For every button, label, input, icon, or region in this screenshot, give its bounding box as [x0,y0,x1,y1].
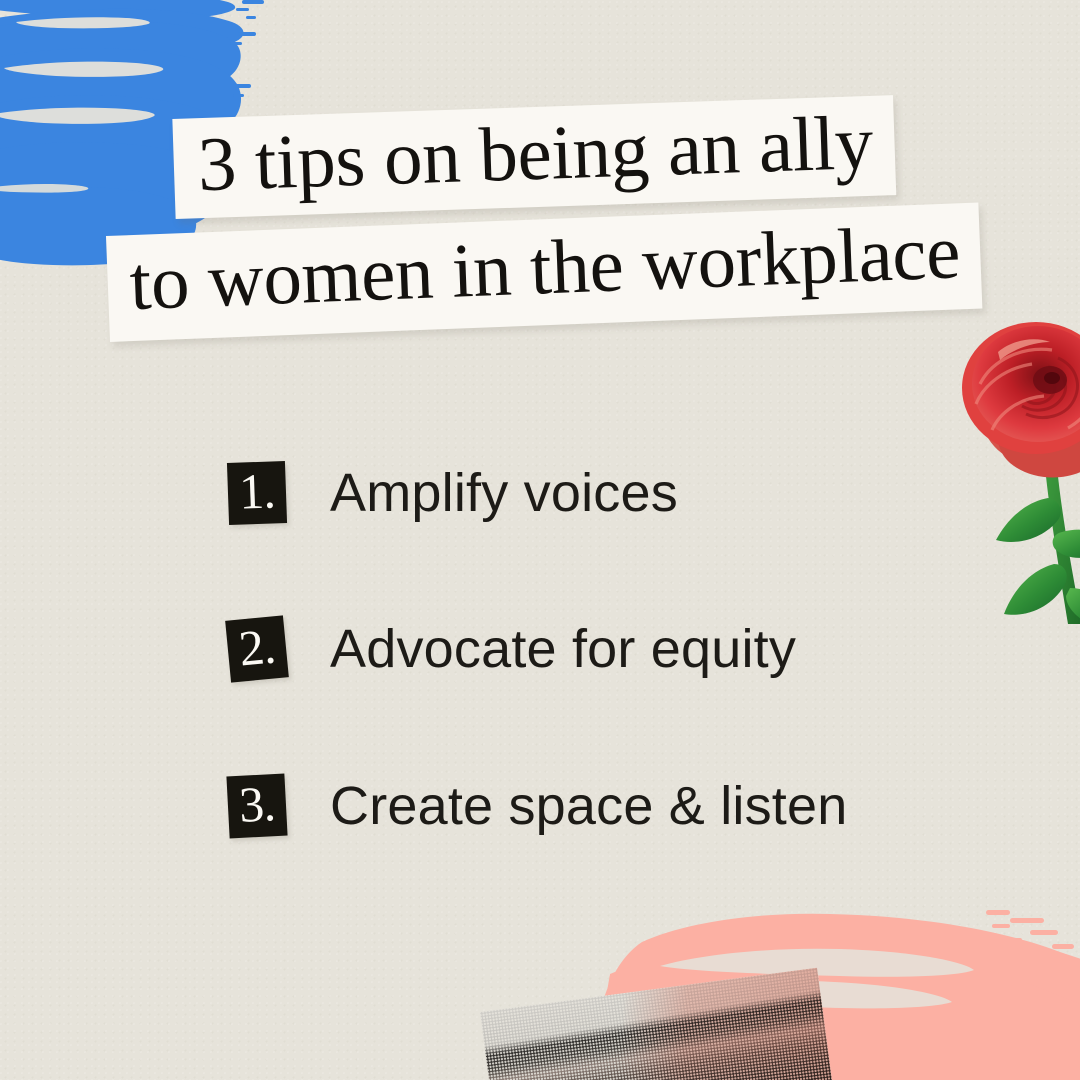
poster-canvas: 3 tips on being an ally to women in the … [0,0,1080,1080]
list-item: 3. Create space & listen [228,775,847,837]
list-item: 1. Amplify voices [228,462,678,524]
title-line-2-text: to women in the workplace [128,211,961,324]
tip-text-label: Advocate for equity [330,622,796,676]
tip-number-label: 3. [238,778,276,830]
page-title: 3 tips on being an ally to women in the … [0,0,1080,400]
tip-number-badge: 2. [225,615,289,682]
title-line-1-text: 3 tips on being an ally [197,102,875,206]
list-item: 2. Advocate for equity [228,618,796,680]
tip-text-label: Amplify voices [330,466,678,520]
tip-number-label: 1. [238,465,275,516]
title-line-1-bar: 3 tips on being an ally [172,95,896,218]
tip-number-badge: 1. [227,461,287,525]
tip-number-label: 2. [237,620,277,673]
tip-number-badge: 3. [226,774,287,839]
tip-text-label: Create space & listen [330,779,847,833]
title-line-2-bar: to women in the workplace [106,203,982,342]
